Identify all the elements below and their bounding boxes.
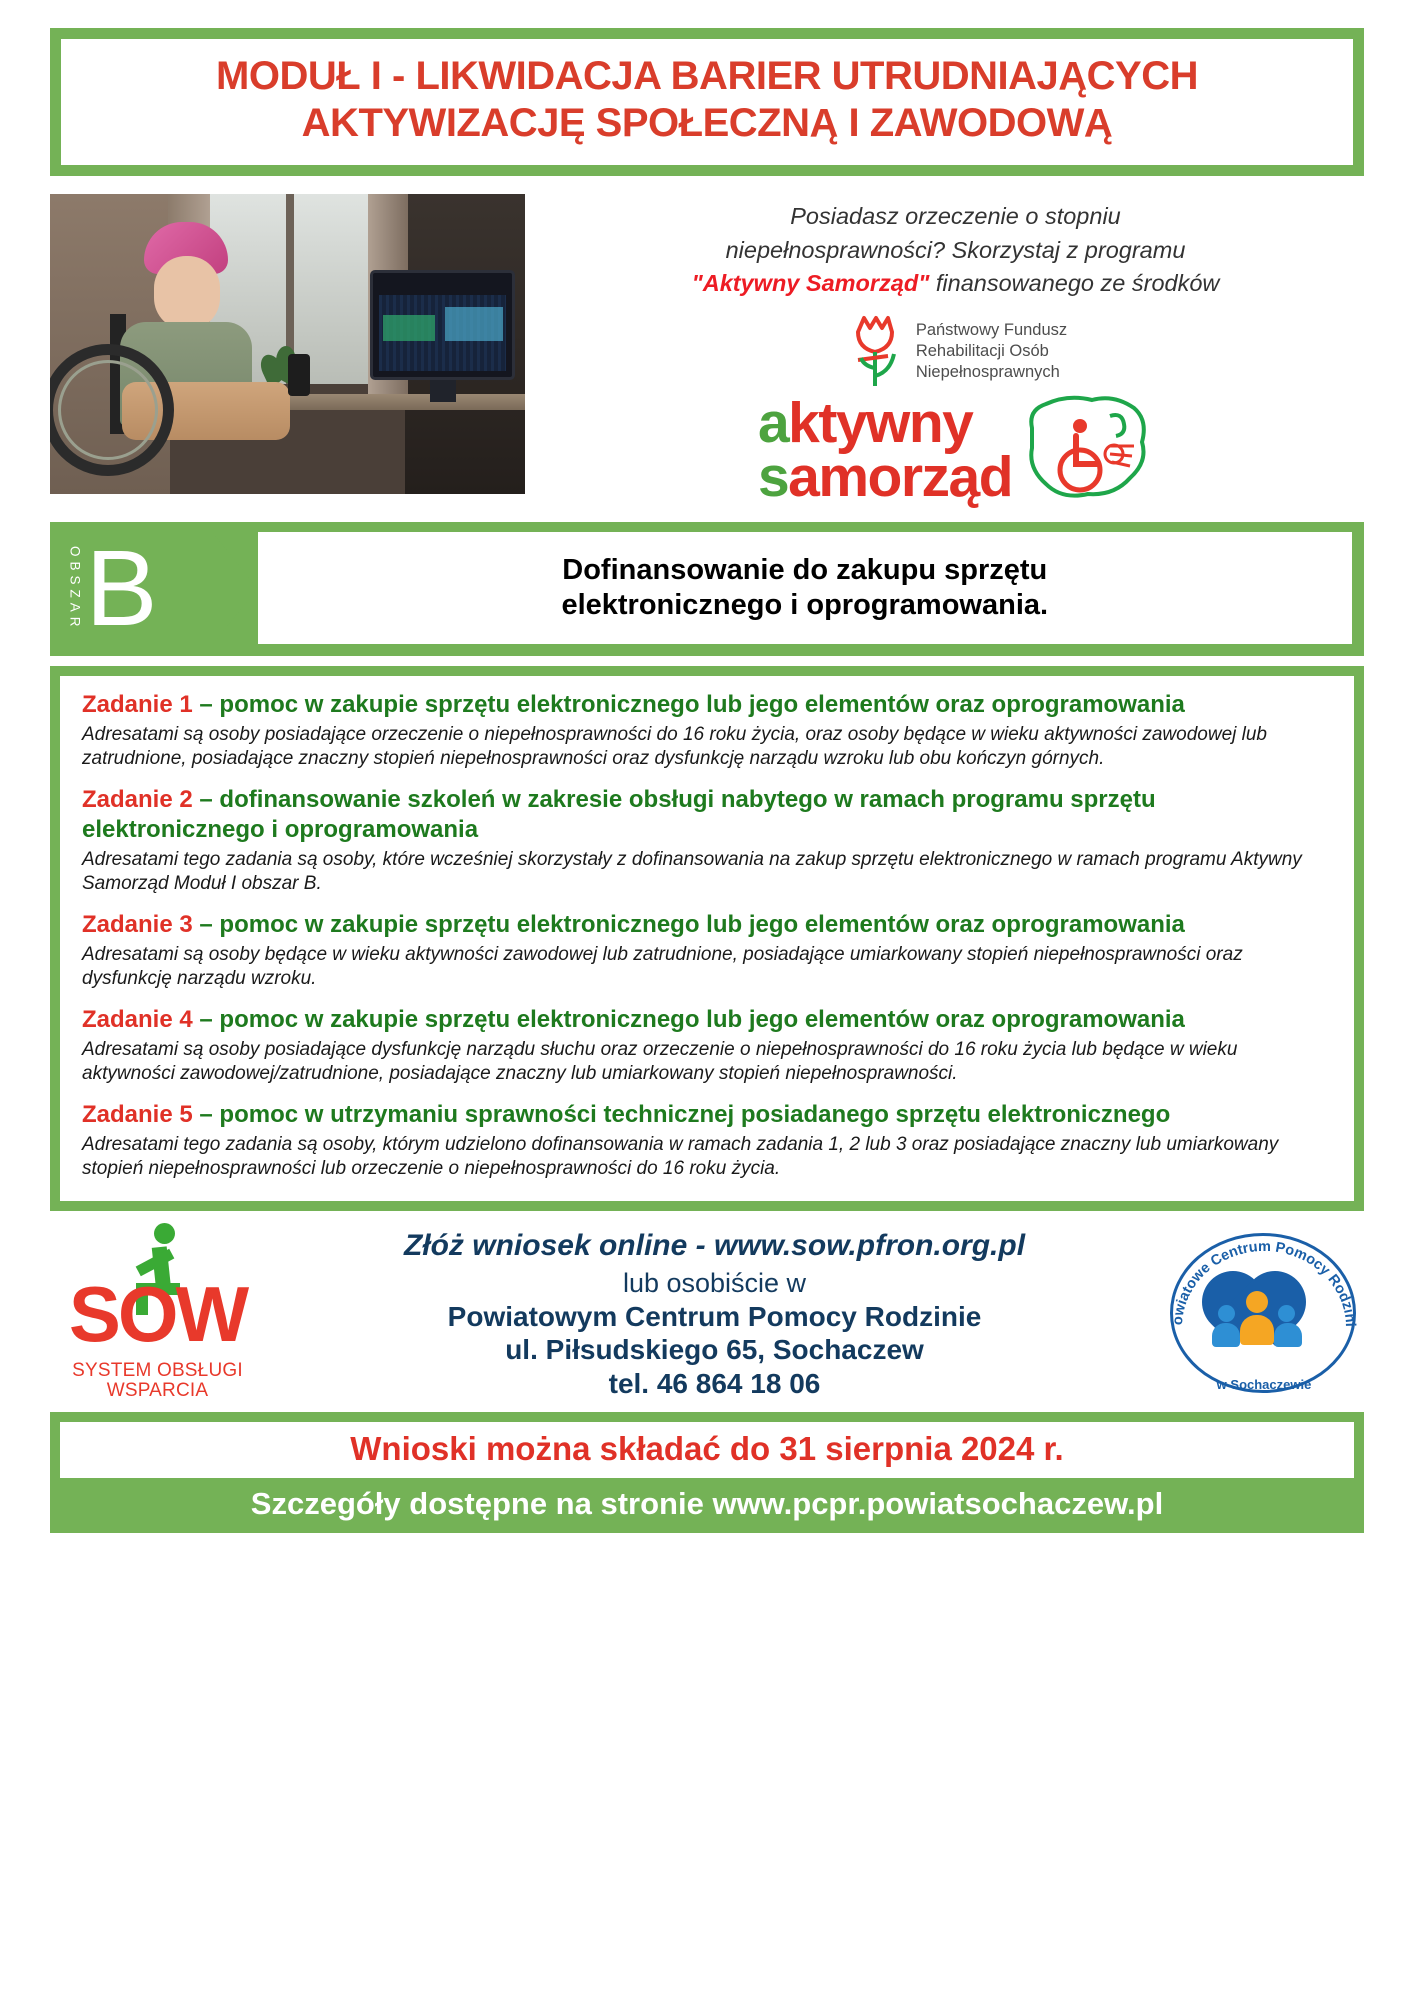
obszar-vertical-label: OBSZAR [68,546,82,632]
hero-intro: Posiadasz orzeczenie o stopniu niepełnos… [547,200,1364,300]
wordmark-line2: samorząd [758,450,1012,505]
task-heading-text: – pomoc w utrzymaniu sprawności technicz… [193,1101,1171,1128]
tasks-panel: Zadanie 1 – pomoc w zakupie sprzętu elek… [60,676,1354,1200]
deadline-text: Wnioski można składać do 31 sierpnia 202… [70,1431,1344,1467]
task-heading-text: – pomoc w zakupie sprzętu elektroniczneg… [193,1006,1185,1033]
obszar-letter: B [86,542,158,635]
hero-intro-line2: niepełnosprawności? Skorzystaj z program… [726,237,1186,263]
task-heading: Zadanie 5 – pomoc w utrzymaniu sprawnośc… [82,1100,1332,1130]
task-number: Zadanie 2 [82,786,193,813]
task-item: Zadanie 4 – pomoc w zakupie sprzętu elek… [82,1005,1332,1086]
page-title-line1: MODUŁ I - LIKWIDACJA BARIER UTRUDNIAJĄCY… [77,53,1337,100]
hero-text-block: Posiadasz orzeczenie o stopniu niepełnos… [525,194,1364,510]
obszar-letter-block: OBSZAR B [62,532,158,644]
task-heading-text: – dofinansowanie szkoleń w zakresie obsł… [82,786,1156,843]
hero-intro-line3: finansowanego ze środków [929,270,1219,296]
task-body: Adresatami tego zadania są osoby, którym… [82,1133,1332,1181]
sow-subtitle-line1: SYSTEM OBSŁUGI [50,1361,265,1382]
sow-wordmark: SOW [60,1275,255,1353]
bottom-banner: Wnioski można składać do 31 sierpnia 202… [50,1412,1364,1533]
task-heading: Zadanie 2 – dofinansowanie szkoleń w zak… [82,785,1332,845]
obszar-band-wrapper: OBSZAR B Dofinansowanie do zakupu sprzęt… [50,522,1364,656]
contact-address: ul. Piłsudskiego 65, Sochaczew [271,1333,1158,1367]
page-title-line2: AKTYWIZACJĘ SPOŁECZNĄ I ZAWODOWĄ [77,100,1337,147]
task-body: Adresatami są osoby posiadające orzeczen… [82,723,1332,771]
task-item: Zadanie 3 – pomoc w zakupie sprzętu elek… [82,910,1332,991]
online-application-link[interactable]: Złóż wniosek online - www.sow.pfron.org.… [271,1228,1158,1263]
monitor-decor [370,270,515,380]
pfron-name-line3: Niepełnosprawnych [916,362,1067,383]
pfron-tulip-icon [844,314,906,388]
title-banner: MODUŁ I - LIKWIDACJA BARIER UTRUDNIAJĄCY… [50,28,1364,176]
pcpr-heart-icon [1202,1265,1320,1369]
details-url[interactable]: www.pcpr.powiatsochaczew.pl [712,1486,1163,1521]
title-banner-inner: MODUŁ I - LIKWIDACJA BARIER UTRUDNIAJĄCY… [61,39,1353,165]
poland-map-accessibility-icon [1018,390,1153,510]
pcpr-logo: Powiatowe Centrum Pomocy Rodzinie w Soch… [1164,1227,1364,1402]
obszar-arrow-icon [158,532,258,644]
contact-institution: Powiatowym Centrum Pomocy Rodzinie [271,1300,1158,1334]
task-heading: Zadanie 4 – pomoc w zakupie sprzętu elek… [82,1005,1332,1035]
obszar-title-line2: elektronicznego i oprogramowania. [561,588,1048,623]
contact-lub-label: lub osobiście w [271,1267,1158,1299]
aktywny-samorzad-wordmark: aktywny samorząd [547,390,1364,510]
contact-details: Złóż wniosek online - www.sow.pfron.org.… [265,1228,1164,1401]
wordmark-line1: aktywny [758,396,1012,451]
pfron-name: Państwowy Fundusz Rehabilitacji Osób Nie… [916,320,1067,382]
task-item: Zadanie 2 – dofinansowanie szkoleń w zak… [82,785,1332,896]
task-body: Adresatami są osoby będące w wieku aktyw… [82,943,1332,991]
pfron-logo-lockup: Państwowy Fundusz Rehabilitacji Osób Nie… [547,314,1364,388]
obszar-title-block: Dofinansowanie do zakupu sprzętu elektro… [258,532,1352,644]
task-heading: Zadanie 3 – pomoc w zakupie sprzętu elek… [82,910,1332,940]
task-number: Zadanie 3 [82,911,193,938]
obszar-title: Dofinansowanie do zakupu sprzętu elektro… [561,553,1048,624]
task-item: Zadanie 5 – pomoc w utrzymaniu sprawnośc… [82,1100,1332,1181]
sow-mark: SOW [60,1227,255,1359]
task-heading-text: – pomoc w zakupie sprzętu elektroniczneg… [193,911,1185,938]
task-heading-text: – pomoc w zakupie sprzętu elektroniczneg… [193,691,1185,718]
sow-subtitle-line2: WSPARCIA [50,1381,265,1402]
pfron-name-line1: Państwowy Fundusz [916,320,1067,341]
task-body: Adresatami są osoby posiadające dysfunkc… [82,1038,1332,1086]
contact-phone: tel. 46 864 18 06 [271,1367,1158,1401]
hero-section: Posiadasz orzeczenie o stopniu niepełnos… [50,194,1364,510]
task-number: Zadanie 4 [82,1006,193,1033]
deadline-box: Wnioski można składać do 31 sierpnia 202… [60,1422,1354,1478]
phone-decor [288,354,310,396]
sow-subtitle: SYSTEM OBSŁUGI WSPARCIA [50,1361,265,1402]
task-heading: Zadanie 1 – pomoc w zakupie sprzętu elek… [82,690,1332,720]
hero-program-name: "Aktywny Samorząd" [692,270,930,296]
task-number: Zadanie 5 [82,1101,193,1128]
poster-page: MODUŁ I - LIKWIDACJA BARIER UTRUDNIAJĄCY… [0,0,1414,2000]
task-number: Zadanie 1 [82,691,193,718]
details-label: Szczegóły dostępne na stronie [251,1486,704,1521]
hero-photo [50,194,525,494]
obszar-band: OBSZAR B Dofinansowanie do zakupu sprzęt… [62,532,1352,644]
contact-section: SOW SYSTEM OBSŁUGI WSPARCIA Złóż wniosek… [50,1223,1364,1402]
tasks-panel-wrapper: Zadanie 1 – pomoc w zakupie sprzętu elek… [50,666,1364,1210]
sow-logo: SOW SYSTEM OBSŁUGI WSPARCIA [50,1227,265,1402]
pfron-name-line2: Rehabilitacji Osób [916,341,1067,362]
task-item: Zadanie 1 – pomoc w zakupie sprzętu elek… [82,690,1332,771]
details-line: Szczegóły dostępne na stronie www.pcpr.p… [60,1478,1354,1521]
obszar-title-line1: Dofinansowanie do zakupu sprzętu [561,553,1048,588]
wordmark-text: aktywny samorząd [758,396,1012,505]
hero-intro-line1: Posiadasz orzeczenie o stopniu [790,203,1121,229]
task-body: Adresatami tego zadania są osoby, które … [82,848,1332,896]
pcpr-bottom-label: w Sochaczewie [1164,1377,1364,1392]
